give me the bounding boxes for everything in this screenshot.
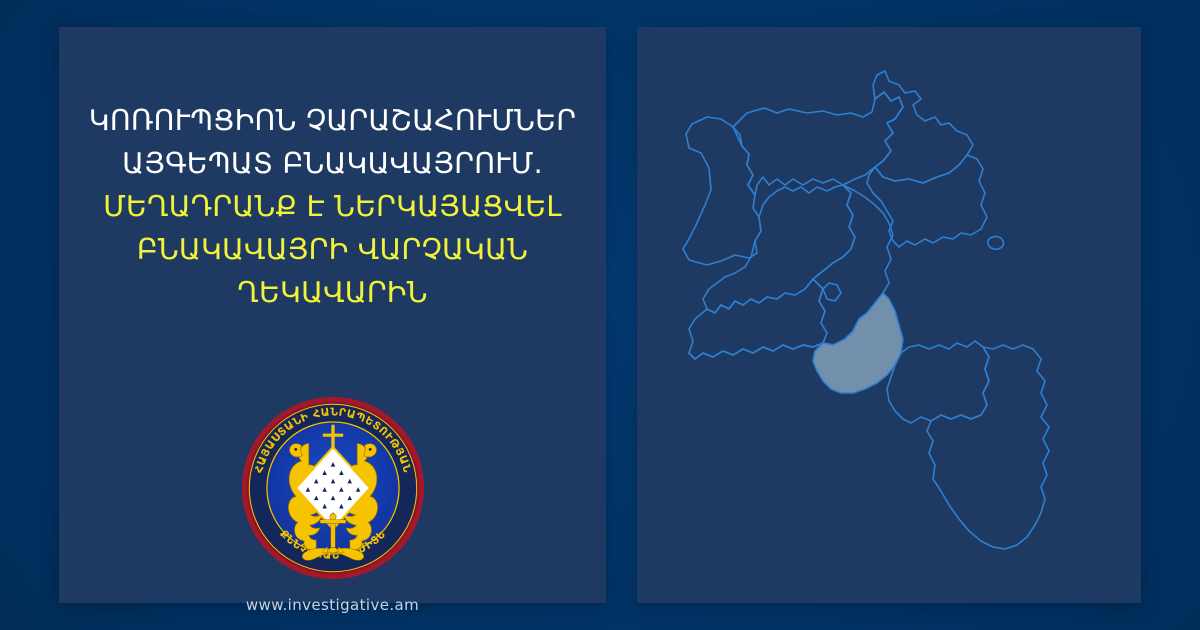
map-region-ararat-highlighted	[813, 293, 903, 393]
site-url-label: www.investigative.am	[59, 596, 606, 614]
map-region-lori	[733, 92, 903, 195]
investigative-committee-emblem-icon: ՀԱՅԱՍՏԱՆԻ ՀԱՆՐԱՊԵՏՈՒԹՅԱՆ ՔՆՆՉԱԿԱՆ ԿՈՄԻՏԵ	[240, 395, 426, 581]
map-region-vayots-dzor	[887, 341, 989, 423]
map-region-gegharkunik	[867, 155, 987, 247]
headline-line-3: ՄԵՂԱԴՐԱՆՔ Է ՆԵՐԿԱՅԱՑՎԵԼ	[83, 185, 582, 228]
map-region-yerevan	[823, 283, 841, 301]
poster-canvas: ԿՈՌՈՒՊՑԻՈՆ ՉԱՐԱՇԱՀՈՒՄՆԵՐ ԱՅԳԵՊԱՏ ԲՆԱԿԱՎԱ…	[0, 0, 1200, 630]
headline-line-5: ՂԵԿԱՎԱՐԻՆ	[83, 271, 582, 314]
armenia-map	[637, 27, 1141, 603]
left-content-panel: ԿՈՌՈՒՊՑԻՈՆ ՉԱՐԱՇԱՀՈՒՄՆԵՐ ԱՅԳԵՊԱՏ ԲՆԱԿԱՎԱ…	[59, 27, 606, 603]
map-national-border-southwest	[689, 343, 823, 359]
map-islet-marker	[988, 237, 1004, 250]
headline-block: ԿՈՌՈՒՊՑԻՈՆ ՉԱՐԱՇԱՀՈՒՄՆԵՐ ԱՅԳԵՊԱՏ ԲՆԱԿԱՎԱ…	[83, 99, 582, 314]
headline-line-4: ԲՆԱԿԱՎԱՅՐԻ ՎԱՐՉԱԿԱՆ	[83, 228, 582, 271]
map-region-syunik	[927, 345, 1049, 549]
headline-line-1: ԿՈՌՈՒՊՑԻՈՆ ՉԱՐԱՇԱՀՈՒՄՆԵՐ	[83, 99, 582, 142]
map-region-armavir	[689, 279, 827, 359]
map-region-aragatsotn	[703, 185, 855, 313]
headline-line-2: ԱՅԳԵՊԱՏ ԲՆԱԿԱՎԱՅՐՈՒՄ.	[83, 142, 582, 185]
map-region-shirak	[683, 117, 761, 265]
right-map-panel	[637, 27, 1141, 603]
